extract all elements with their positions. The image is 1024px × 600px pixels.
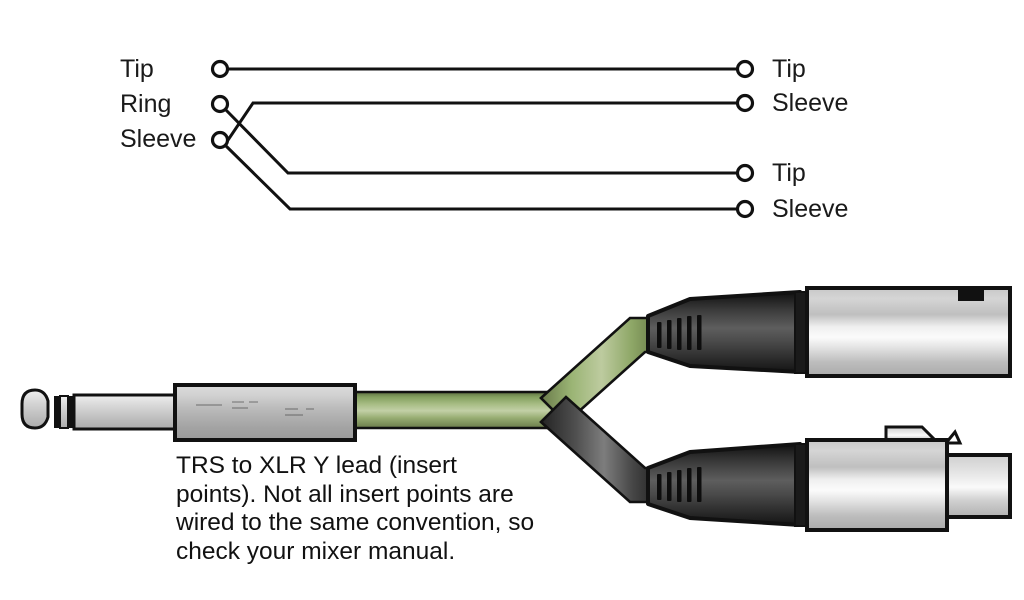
cable-trunk — [352, 392, 560, 428]
terminal-left-ring[interactable] — [213, 97, 228, 112]
xlr-male-pin-collar — [947, 455, 1010, 517]
diagram-canvas: Tip Ring Sleeve Tip Sleeve Tip Sleeve TR… — [0, 0, 1024, 600]
trs-barrel — [175, 385, 355, 440]
right-terminals — [738, 62, 753, 217]
left-terminals — [213, 62, 228, 148]
trs-sleeve-shaft — [74, 395, 175, 429]
label-right-tip-upper: Tip — [772, 57, 806, 82]
main-cable — [352, 392, 560, 428]
cable-branch-lower — [541, 397, 662, 502]
terminal-right-tip-upper[interactable] — [738, 62, 753, 77]
label-right-sleeve-lower: Sleeve — [772, 197, 848, 222]
trs-tip — [22, 390, 48, 428]
label-left-sleeve: Sleeve — [120, 127, 196, 152]
wire-sleeve-to-sleeve-upper — [226, 103, 737, 143]
xlr-connector-male — [648, 427, 1010, 530]
branch-grey — [541, 397, 662, 502]
xlr-connector-female — [648, 288, 1010, 376]
xlr-male-shell — [807, 440, 947, 530]
label-right-tip-lower: Tip — [772, 161, 806, 186]
terminal-left-sleeve[interactable] — [213, 133, 228, 148]
trs-ring-contact — [60, 396, 68, 428]
label-left-tip: Tip — [120, 57, 154, 82]
figure-caption: TRS to XLR Y lead (insert points). Not a… — [176, 452, 556, 566]
terminal-right-sleeve-upper[interactable] — [738, 96, 753, 111]
terminal-right-sleeve-lower[interactable] — [738, 202, 753, 217]
xlr-female-shell — [807, 288, 1010, 376]
terminal-left-tip[interactable] — [213, 62, 228, 77]
xlr-female-latch-notch — [958, 290, 984, 301]
schematic-wires — [224, 69, 737, 209]
label-left-ring: Ring — [120, 92, 171, 117]
terminal-right-tip-lower[interactable] — [738, 166, 753, 181]
wire-ring-to-tip-lower — [224, 108, 737, 173]
wire-sleeve-to-sleeve-lower — [224, 144, 737, 209]
label-right-sleeve-upper: Sleeve — [772, 91, 848, 116]
trs-plug — [22, 385, 355, 440]
